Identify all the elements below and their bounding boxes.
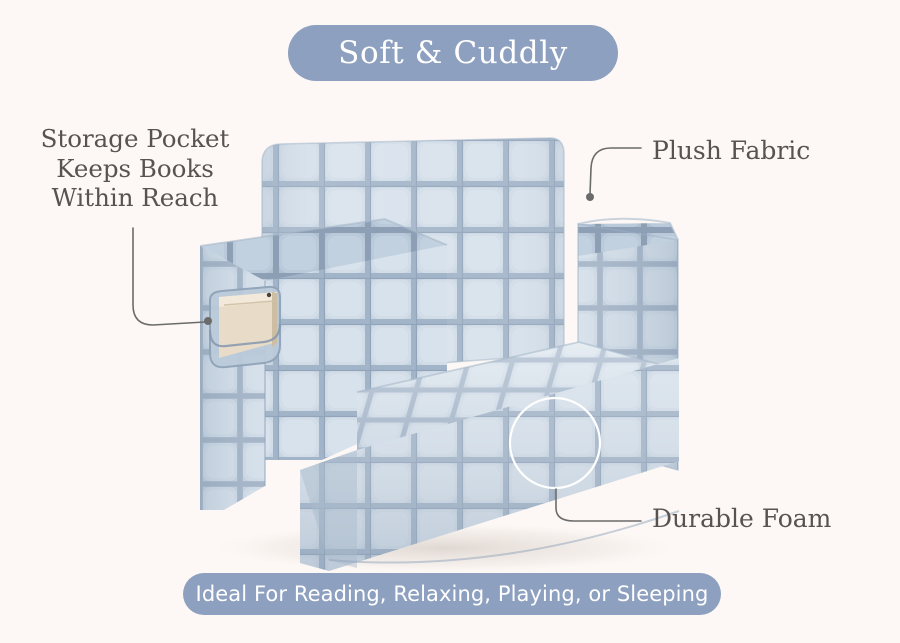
footer-banner-label: Ideal For Reading, Relaxing, Playing, or… — [196, 582, 709, 606]
side-storage-pocket — [210, 287, 280, 367]
infographic-canvas: Soft & Cuddly Storage Pocket Keeps Books… — [0, 0, 900, 643]
callout-label-plush-fabric: Plush Fabric — [652, 136, 810, 165]
callout-label-storage-pocket-line-2: Keeps Books — [22, 154, 248, 184]
footer-banner: Ideal For Reading, Relaxing, Playing, or… — [183, 573, 721, 615]
callout-label-durable-foam: Durable Foam — [652, 504, 831, 533]
callout-label-storage-pocket: Storage Pocket Keeps Books Within Reach — [22, 124, 248, 213]
title-badge-label: Soft & Cuddly — [338, 35, 568, 71]
callout-label-storage-pocket-line-3: Within Reach — [22, 183, 248, 213]
callout-label-storage-pocket-line-1: Storage Pocket — [22, 124, 248, 154]
product-image-armchair — [0, 0, 900, 643]
title-badge: Soft & Cuddly — [288, 25, 618, 81]
